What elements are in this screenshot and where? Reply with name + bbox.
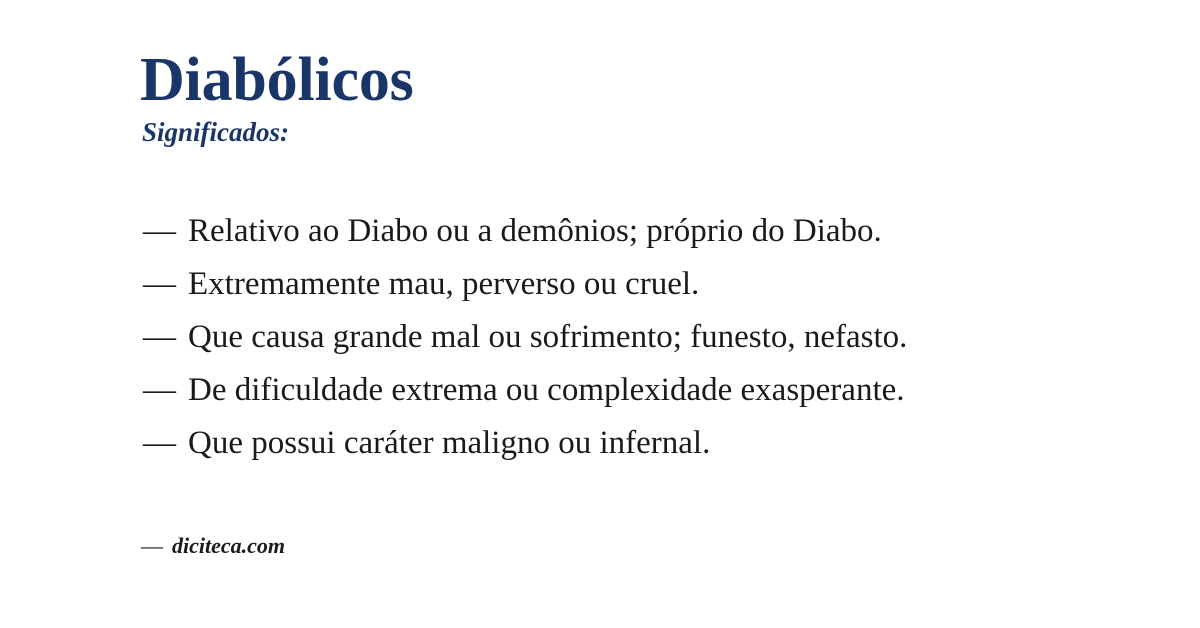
page-title: Diabólicos [140, 48, 414, 114]
list-item: — Que causa grande mal ou sofrimento; fu… [143, 311, 907, 364]
em-dash-icon: — [143, 311, 188, 364]
list-item: — Extremamente mau, perverso ou cruel. [143, 258, 907, 311]
header: Diabólicos Significados: [140, 48, 414, 148]
list-item: — Relativo ao Diabo ou a demônios; própr… [143, 205, 907, 258]
source-attribution: — diciteca.com [141, 533, 285, 559]
meaning-text: Extremamente mau, perverso ou cruel. [188, 258, 699, 311]
em-dash-icon: — [143, 258, 188, 311]
en-dash-icon: — [141, 533, 163, 559]
source-site-name: diciteca.com [172, 533, 285, 559]
list-item: — Que possui caráter maligno ou infernal… [143, 417, 907, 470]
em-dash-icon: — [143, 417, 188, 470]
meaning-text: Que possui caráter maligno ou infernal. [188, 417, 710, 470]
em-dash-icon: — [143, 205, 188, 258]
meaning-text: De dificuldade extrema ou complexidade e… [188, 364, 905, 417]
definition-card: Diabólicos Significados: — Relativo ao D… [0, 0, 1200, 628]
meanings-list: — Relativo ao Diabo ou a demônios; própr… [143, 205, 907, 470]
meaning-text: Relativo ao Diabo ou a demônios; próprio… [188, 205, 882, 258]
meaning-text: Que causa grande mal ou sofrimento; fune… [188, 311, 907, 364]
subtitle-significados: Significados: [142, 116, 414, 148]
em-dash-icon: — [143, 364, 188, 417]
list-item: — De dificuldade extrema ou complexidade… [143, 364, 907, 417]
